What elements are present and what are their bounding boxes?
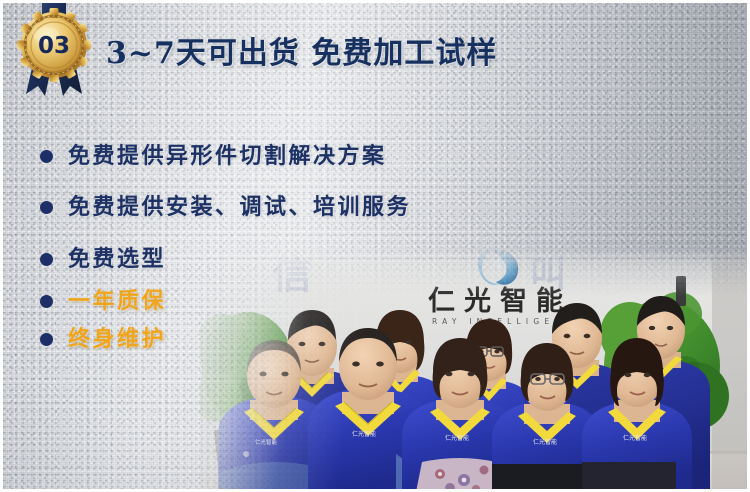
list-item: 终身维护 xyxy=(40,320,411,358)
medal-badge: 03 xyxy=(12,2,96,98)
slide-root: 信 叫 仁光智能 RAY INTELLIGENT xyxy=(0,0,750,492)
list-item-label: 免费提供安装、调试、培训服务 xyxy=(68,196,411,218)
bullet-dot-icon xyxy=(40,150,53,163)
medal-number: 03 xyxy=(38,33,70,59)
list-item-label: 免费选型 xyxy=(68,248,166,270)
feature-list: 免费提供异形件切割解决方案 免费提供安装、调试、培训服务 免费选型 一年质保 终… xyxy=(40,134,411,358)
list-item: 免费提供安装、调试、培训服务 xyxy=(40,178,411,236)
list-item: 免费提供异形件切割解决方案 xyxy=(40,134,411,178)
bullet-dot-icon xyxy=(40,253,53,266)
bullet-dot-icon xyxy=(40,333,53,346)
list-item: 免费选型 xyxy=(40,236,411,282)
list-item-label: 免费提供异形件切割解决方案 xyxy=(68,145,387,167)
bullet-dot-icon xyxy=(40,295,53,308)
list-item: 一年质保 xyxy=(40,282,411,320)
page-title: 3~7天可出货 免费加工试样 xyxy=(106,28,497,72)
bullet-dot-icon xyxy=(40,201,53,214)
list-item-label: 终身维护 xyxy=(68,328,166,350)
list-item-label: 一年质保 xyxy=(68,290,166,312)
